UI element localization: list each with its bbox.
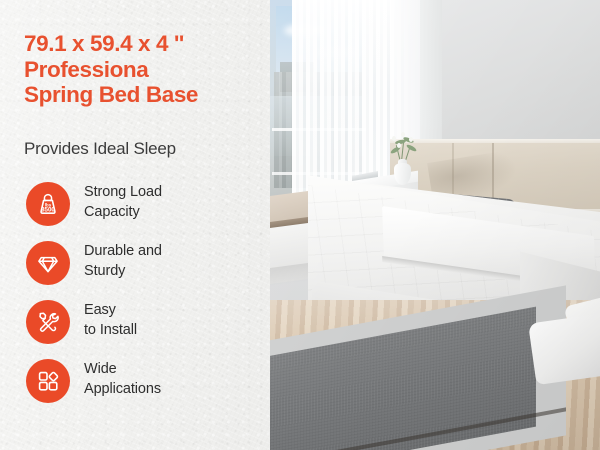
headline-product-line1: Professiona — [24, 57, 260, 83]
feature-item-durable-and-sturdy: Durable and Sturdy — [26, 239, 266, 298]
feature-label: Strong Load Capacity — [84, 183, 266, 222]
info-panel: 79.1 x 59.4 x 4 '' Professiona Spring Be… — [0, 0, 270, 450]
tools-icon — [34, 308, 62, 336]
feature-item-wide-applications: Wide Applications — [26, 357, 266, 416]
feature-label: Easy to Install — [84, 301, 266, 340]
feature-label-line2: Capacity — [84, 203, 266, 223]
feature-list: lbs 3500 Strong Load Capacity — [26, 180, 266, 416]
weight-icon: lbs 3500 — [34, 190, 62, 218]
headline: 79.1 x 59.4 x 4 '' Professiona Spring Be… — [24, 31, 260, 108]
feature-label: Wide Applications — [84, 360, 266, 399]
headline-dimensions: 79.1 x 59.4 x 4 '' — [24, 31, 260, 57]
feature-label: Durable and Sturdy — [84, 242, 266, 281]
subtitle: Provides Ideal Sleep — [24, 139, 176, 159]
feature-item-strong-load-capacity: lbs 3500 Strong Load Capacity — [26, 180, 266, 239]
feature-label-line1: Strong Load — [84, 183, 266, 203]
grid-shapes-icon — [34, 367, 62, 395]
feature-label-line1: Easy — [84, 301, 266, 321]
feature-label-line1: Wide — [84, 360, 266, 380]
cushion — [528, 313, 600, 385]
wall-pillar — [420, 0, 442, 160]
feature-item-easy-to-install: Easy to Install — [26, 298, 266, 357]
feature-badge — [26, 300, 70, 344]
feature-label-line2: Applications — [84, 380, 266, 400]
flower-bloom — [392, 136, 396, 141]
weight-icon-value: 3500 — [41, 206, 55, 213]
product-photo — [270, 0, 600, 450]
right-wall — [422, 0, 600, 148]
feature-label-line2: Sturdy — [84, 262, 266, 282]
flower-bloom — [397, 143, 401, 148]
flower-bloom — [401, 132, 405, 137]
product-banner: 79.1 x 59.4 x 4 '' Professiona Spring Be… — [0, 0, 600, 450]
feature-badge — [26, 241, 70, 285]
diamond-icon — [34, 249, 62, 277]
feature-badge — [26, 359, 70, 403]
flower-bloom — [409, 137, 413, 142]
feature-label-line1: Durable and — [84, 242, 266, 262]
feature-badge: lbs 3500 — [26, 182, 70, 226]
headline-product-line2: Spring Bed Base — [24, 82, 260, 108]
feature-label-line2: to Install — [84, 321, 266, 341]
